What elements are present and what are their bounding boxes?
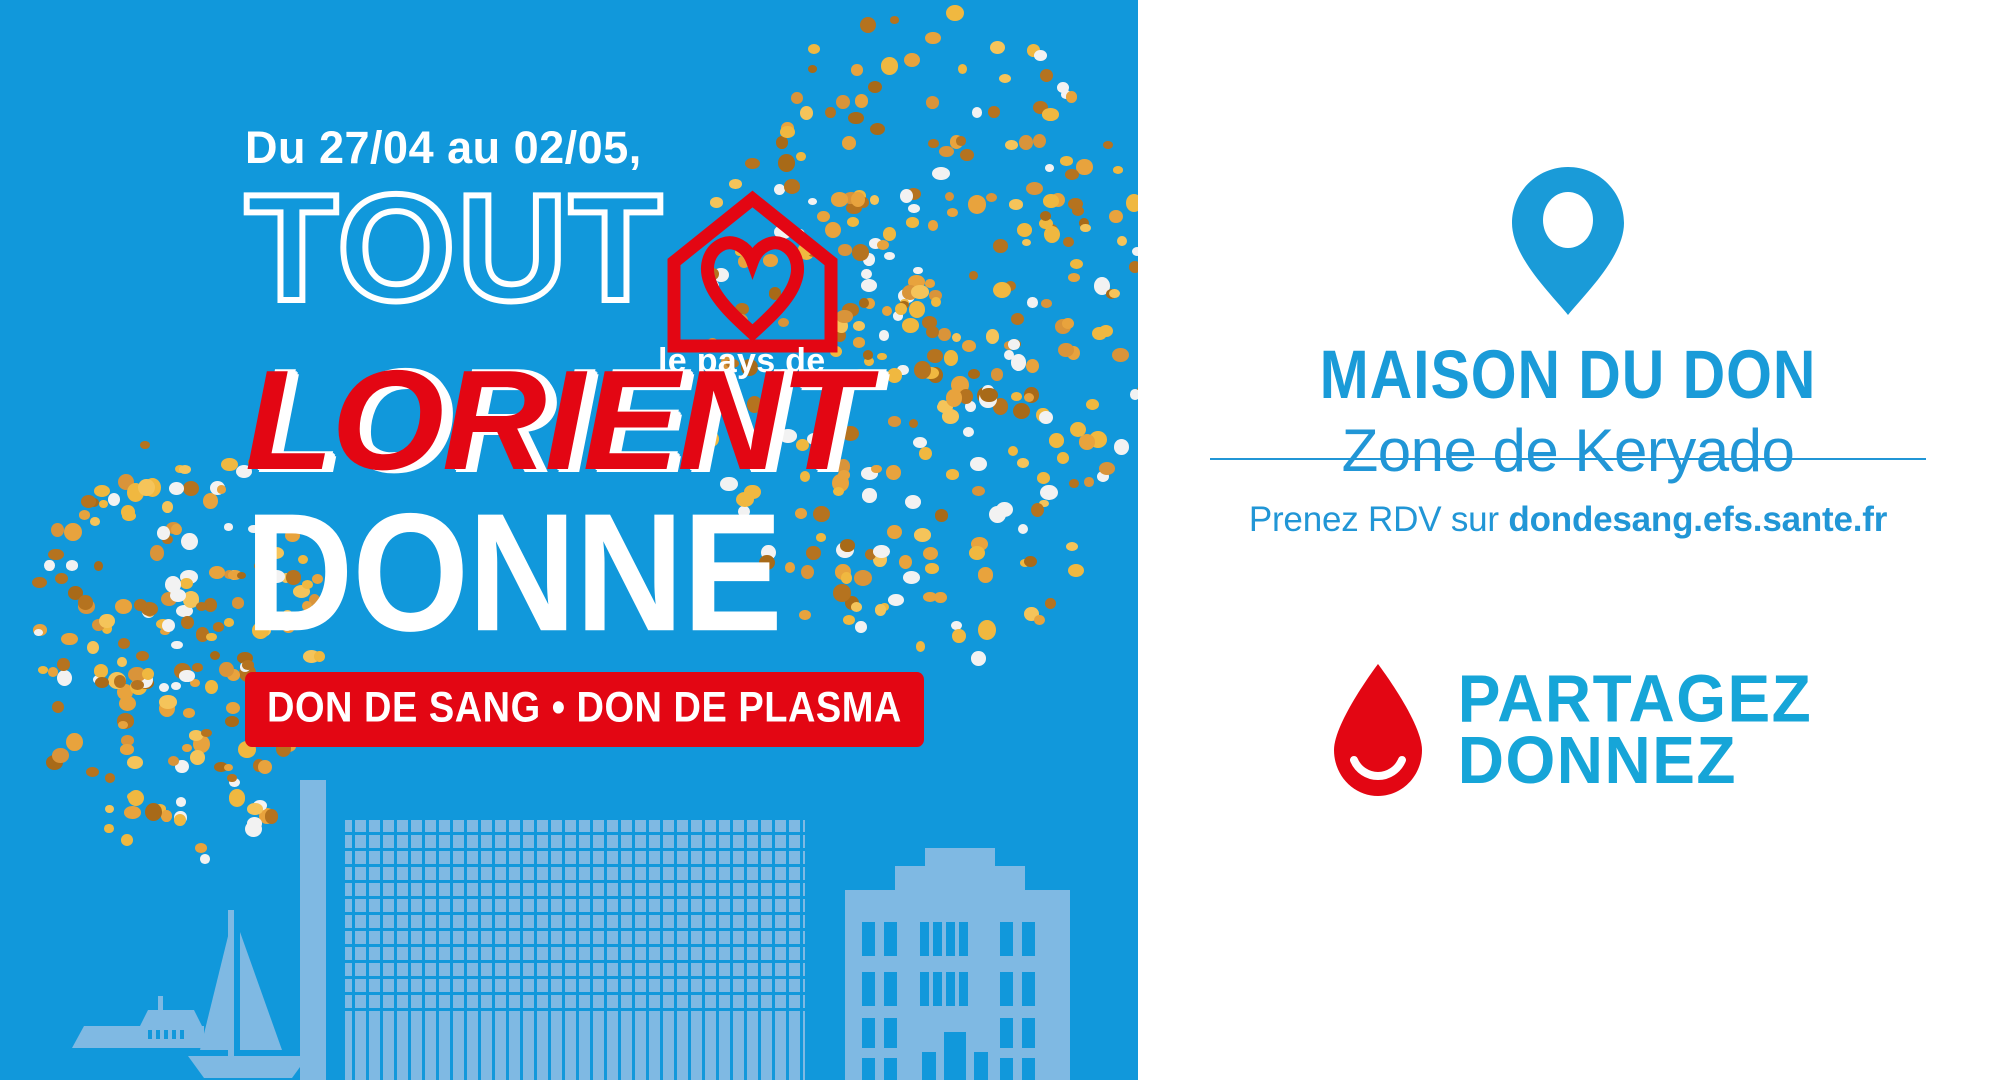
confetti-dot	[95, 677, 109, 688]
efs-logo-line2: DONNEZ	[1458, 730, 1813, 791]
confetti-dot	[181, 533, 198, 550]
rdv-url-link[interactable]: dondesang.efs.sante.fr	[1508, 500, 1887, 539]
confetti-dot	[33, 624, 47, 635]
confetti-dot	[87, 641, 99, 654]
confetti-dot	[114, 675, 126, 688]
confetti-dot	[81, 495, 96, 508]
confetti-dot	[180, 570, 198, 584]
confetti-dot	[78, 599, 95, 614]
confetti-dot	[1113, 166, 1124, 174]
rdv-instruction: Prenez RDV sur dondesang.efs.sante.fr	[1138, 500, 1998, 540]
venue-subtitle: Zone de Keryado	[1138, 419, 1998, 484]
confetti-dot	[203, 493, 219, 509]
confetti-dot	[209, 566, 225, 579]
confetti-dot	[990, 41, 1005, 54]
confetti-dot	[66, 733, 83, 751]
word-donne: DONNE	[245, 488, 1105, 656]
confetti-dot	[225, 716, 239, 727]
confetti-dot	[175, 465, 185, 473]
confetti-dot	[48, 549, 64, 561]
confetti-dot	[988, 106, 1000, 117]
confetti-dot	[224, 570, 235, 580]
confetti-dot	[196, 602, 207, 611]
confetti-dot	[999, 74, 1011, 83]
right-info-panel: MAISON DU DON Zone de Keryado Prenez RDV…	[1138, 0, 1998, 1080]
confetti-dot	[48, 667, 59, 677]
confetti-dot	[61, 633, 78, 646]
confetti-dot	[52, 701, 64, 713]
efs-logo-text: PARTAGEZ DONNEZ	[1458, 669, 1813, 791]
confetti-dot	[925, 32, 940, 44]
confetti-dot	[253, 759, 265, 772]
confetti-dot	[855, 94, 869, 108]
confetti-dot	[92, 619, 105, 631]
confetti-dot	[1040, 69, 1054, 82]
confetti-dot	[162, 619, 175, 632]
confetti-dot	[958, 64, 967, 74]
confetti-dot	[190, 750, 205, 765]
confetti-dot	[171, 524, 182, 535]
horizontal-divider	[1210, 458, 1926, 460]
blood-drop-icon	[1324, 660, 1432, 800]
headline-block: Du 27/04 au 02/05, TOUT le pays de LORIE…	[245, 125, 1105, 739]
confetti-dot	[227, 669, 240, 681]
confetti-dot	[1034, 50, 1047, 61]
confetti-dot	[800, 106, 813, 120]
confetti-dot	[1066, 91, 1077, 102]
confetti-dot	[926, 96, 940, 109]
confetti-dot	[102, 623, 113, 634]
confetti-dot	[1109, 210, 1123, 223]
confetti-dot	[1027, 44, 1040, 57]
confetti-dot	[201, 729, 212, 737]
confetti-dot	[128, 667, 146, 682]
confetti-dot	[150, 545, 165, 561]
confetti-dot	[162, 535, 172, 544]
confetti-dot	[221, 458, 238, 471]
rdv-prefix-text: Prenez RDV sur	[1249, 500, 1509, 539]
confetti-dot	[904, 53, 920, 67]
confetti-dot	[156, 619, 170, 629]
confetti-dot	[180, 578, 194, 589]
confetti-dot	[137, 672, 153, 688]
confetti-dot	[118, 638, 130, 649]
confetti-dot	[108, 672, 126, 689]
confetti-dot	[130, 679, 146, 695]
confetti-dot	[226, 702, 240, 714]
map-pin-icon-wrapper	[1138, 165, 1998, 317]
confetti-dot	[163, 620, 173, 628]
confetti-dot	[183, 708, 195, 718]
confetti-dot	[210, 651, 220, 660]
confetti-dot	[51, 523, 64, 537]
confetti-dot	[94, 664, 109, 678]
word-tout: TOUT	[245, 172, 664, 324]
confetti-dot	[210, 481, 225, 495]
map-pin-icon	[1510, 165, 1626, 317]
confetti-dot	[206, 633, 216, 641]
confetti-dot	[1109, 289, 1120, 298]
confetti-dot	[1061, 90, 1071, 98]
confetti-dot	[1057, 82, 1069, 93]
confetti-dot	[38, 666, 49, 674]
confetti-dot	[890, 16, 899, 23]
confetti-dot	[120, 744, 133, 754]
word-lorient: LORIENT	[245, 350, 1122, 492]
confetti-dot	[68, 586, 83, 600]
confetti-dot	[183, 591, 200, 607]
confetti-dot	[89, 498, 99, 507]
confetti-dot	[79, 510, 90, 520]
don-types-banner: DON DE SANG • DON DE PLASMA	[245, 672, 924, 747]
confetti-dot	[57, 658, 69, 671]
confetti-dot	[1033, 101, 1048, 114]
efs-partagez-donnez-logo: PARTAGEZ DONNEZ	[1138, 660, 1998, 800]
confetti-dot	[131, 680, 144, 690]
confetti-dot	[881, 57, 899, 75]
confetti-dot	[1117, 236, 1127, 246]
confetti-dot	[189, 730, 203, 741]
confetti-dot	[946, 5, 964, 21]
confetti-dot	[175, 760, 189, 773]
confetti-dot	[168, 756, 179, 766]
confetti-dot	[145, 606, 155, 617]
confetti-dot	[32, 577, 47, 588]
confetti-dot	[1042, 108, 1059, 120]
confetti-dot	[171, 641, 183, 649]
confetti-dot	[836, 95, 850, 109]
confetti-dot	[190, 679, 200, 688]
confetti-dot	[157, 526, 170, 540]
confetti-dot	[55, 573, 68, 584]
confetti-dot	[159, 683, 169, 693]
confetti-dot	[169, 482, 184, 495]
tout-and-logo-row: TOUT le pays de	[245, 180, 1105, 340]
confetti-dot	[229, 570, 239, 581]
confetti-dot	[138, 479, 155, 496]
confetti-dot	[66, 560, 78, 571]
confetti-dot	[176, 605, 193, 617]
house-heart-icon	[665, 190, 840, 355]
confetti-dot	[972, 107, 982, 117]
confetti-dot	[808, 44, 820, 54]
confetti-dot	[117, 657, 127, 667]
confetti-dot	[144, 478, 162, 497]
confetti-dot	[174, 663, 191, 679]
confetti-dot	[228, 570, 242, 580]
confetti-dot	[99, 500, 108, 509]
confetti-dot	[179, 465, 191, 474]
confetti-dot	[142, 668, 154, 680]
confetti-dot	[185, 597, 196, 607]
poster-canvas: Du 27/04 au 02/05, TOUT le pays de LORIE…	[0, 0, 1998, 1080]
confetti-dot	[121, 505, 136, 519]
confetti-dot	[205, 680, 218, 694]
confetti-dot	[160, 628, 170, 635]
confetti-dot	[224, 523, 233, 530]
confetti-dot	[142, 605, 155, 618]
confetti-dot	[93, 675, 104, 684]
cityscape-silhouette	[0, 780, 1138, 1080]
confetti-dot	[868, 81, 882, 93]
confetti-dot	[201, 730, 210, 738]
confetti-dot	[159, 700, 175, 717]
confetti-dot	[224, 618, 235, 627]
confetti-dot	[34, 629, 43, 636]
confetti-dot	[162, 501, 173, 513]
confetti-dot	[170, 589, 186, 602]
confetti-dot	[94, 485, 110, 497]
confetti-dot	[57, 670, 72, 686]
confetti-dot	[117, 684, 133, 701]
confetti-dot	[1129, 261, 1138, 273]
confetti-dot	[214, 762, 228, 773]
confetti-dot	[86, 767, 99, 778]
confetti-dot	[127, 483, 144, 502]
confetti-dot	[159, 695, 177, 709]
confetti-dot	[121, 735, 134, 746]
confetti-dot	[1126, 194, 1138, 212]
confetti-dot	[108, 493, 120, 506]
confetti-dot	[141, 602, 158, 616]
confetti-dot	[46, 755, 63, 770]
confetti-dot	[217, 485, 226, 494]
confetti-dot	[179, 670, 194, 681]
confetti-dot	[140, 441, 150, 449]
confetti-dot	[232, 597, 245, 608]
confetti-dot	[808, 65, 817, 73]
confetti-dot	[848, 112, 864, 125]
confetti-dot	[193, 735, 210, 753]
confetti-dot	[90, 517, 100, 526]
confetti-dot	[192, 663, 203, 672]
confetti-dot	[117, 713, 134, 729]
confetti-dot	[860, 17, 876, 33]
confetti-dot	[224, 764, 233, 771]
confetti-dot	[183, 481, 199, 496]
confetti-dot	[161, 592, 177, 606]
venue-name: MAISON DU DON	[1160, 342, 1977, 410]
confetti-dot	[1106, 289, 1117, 299]
confetti-dot	[196, 627, 210, 641]
confetti-dot	[219, 662, 234, 678]
confetti-dot	[258, 760, 272, 774]
confetti-dot	[134, 599, 147, 612]
efs-logo-line1: PARTAGEZ	[1458, 669, 1813, 730]
confetti-dot	[851, 64, 863, 75]
confetti-dot	[181, 616, 193, 629]
confetti-dot	[118, 721, 128, 729]
confetti-dot	[127, 756, 143, 769]
confetti-dot	[118, 474, 134, 490]
confetti-dot	[171, 682, 181, 690]
confetti-dot	[78, 595, 94, 610]
confetti-dot	[204, 598, 218, 612]
confetti-dot	[139, 677, 154, 690]
confetti-dot	[94, 561, 103, 571]
venue-block: MAISON DU DON Zone de Keryado	[1138, 345, 1998, 484]
confetti-dot	[119, 696, 136, 711]
confetti-dot	[182, 744, 192, 752]
confetti-dot	[64, 523, 82, 541]
confetti-dot	[44, 560, 55, 572]
confetti-dot	[165, 576, 181, 593]
confetti-dot	[122, 511, 136, 521]
confetti-dot	[99, 614, 115, 629]
confetti-dot	[825, 107, 835, 118]
confetti-dot	[1130, 389, 1138, 399]
confetti-dot	[791, 92, 803, 104]
confetti-dot	[136, 651, 149, 662]
confetti-dot	[213, 622, 224, 631]
confetti-dot	[166, 522, 182, 534]
confetti-dot	[115, 599, 133, 614]
left-blue-panel: Du 27/04 au 02/05, TOUT le pays de LORIE…	[0, 0, 1138, 1080]
confetti-dot	[52, 748, 69, 763]
